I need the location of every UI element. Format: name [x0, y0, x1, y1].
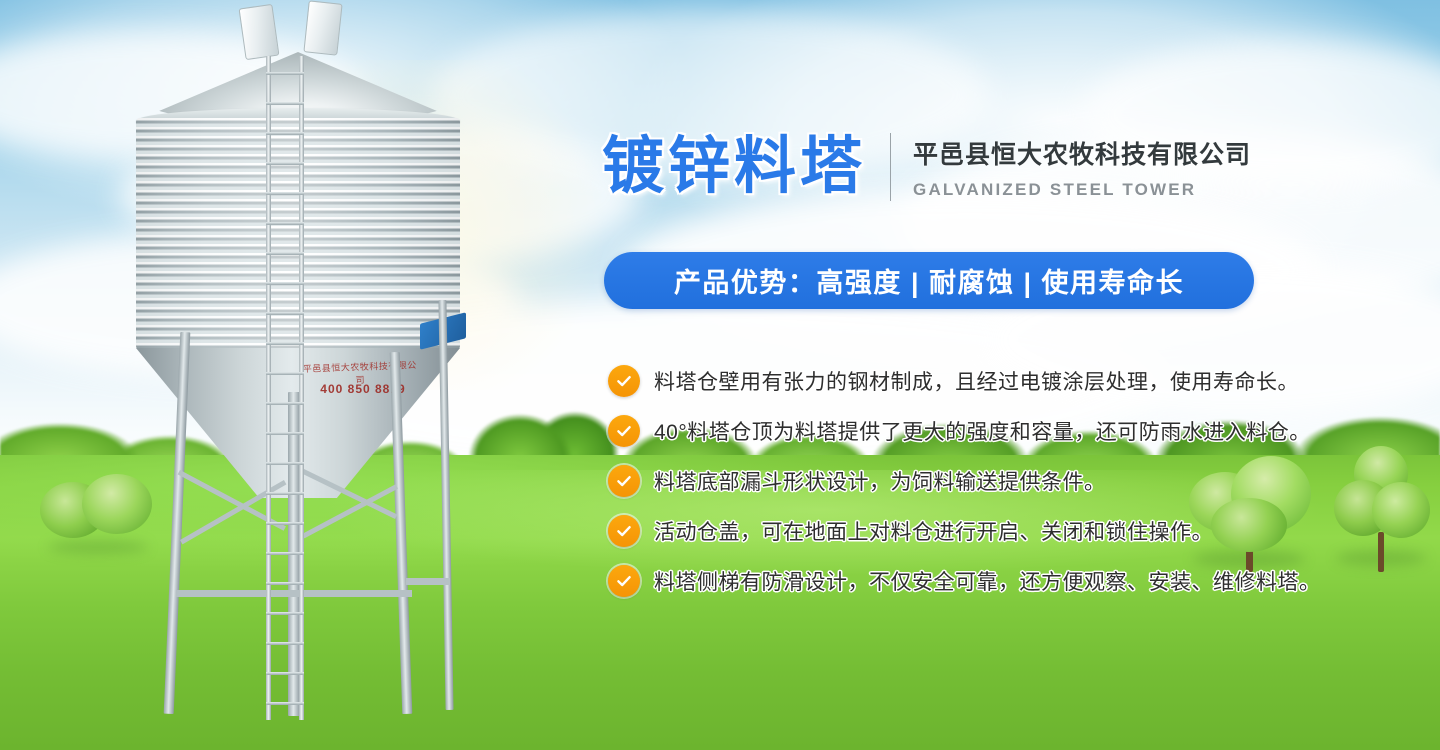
- silo-side-ladder: [266, 56, 304, 720]
- feature-text: 料塔底部漏斗形状设计，为饲料输送提供条件。: [654, 466, 1106, 496]
- product-advantage-banner: 产品优势：高强度 | 耐腐蚀 | 使用寿命长: [604, 252, 1254, 309]
- page-title: 镀锌料塔: [602, 136, 866, 198]
- silo-support-leg: [438, 300, 453, 710]
- list-item: 活动仓盖，可在地面上对料仓进行开启、关闭和锁住操作。: [608, 506, 1408, 556]
- product-image-silo: 平邑县恒大农牧科技有限公司 400 850 8819: [120, 0, 520, 730]
- hero-banner: 平邑县恒大农牧科技有限公司 400 850 8819: [0, 0, 1440, 750]
- list-item: 料塔侧梯有防滑设计，不仅安全可靠，还方便观察、安装、维修料塔。: [608, 556, 1408, 606]
- silo-support-leg: [164, 332, 191, 714]
- check-circle-icon: [608, 465, 640, 497]
- check-circle-icon: [608, 565, 640, 597]
- feature-list: 料塔仓壁用有张力的钢材制成，且经过电镀涂层处理，使用寿命长。 40°料塔仓顶为料…: [608, 356, 1408, 606]
- feature-text: 料塔侧梯有防滑设计，不仅安全可靠，还方便观察、安装、维修料塔。: [654, 566, 1321, 596]
- title-row: 镀锌料塔 平邑县恒大农牧科技有限公司 GALVANIZED STEEL TOWE…: [602, 122, 1251, 212]
- silo-top-vane: [239, 4, 280, 60]
- company-block: 平邑县恒大农牧科技有限公司 GALVANIZED STEEL TOWER: [913, 135, 1251, 200]
- list-item: 料塔底部漏斗形状设计，为饲料输送提供条件。: [608, 456, 1408, 506]
- company-name: 平邑县恒大农牧科技有限公司: [913, 135, 1251, 171]
- title-divider: [890, 133, 891, 201]
- list-item: 40°料塔仓顶为料塔提供了更大的强度和容量，还可防雨水进入料仓。: [608, 406, 1408, 456]
- feature-text: 料塔仓壁用有张力的钢材制成，且经过电镀涂层处理，使用寿命长。: [654, 366, 1299, 396]
- silo-top-vane: [303, 0, 342, 55]
- product-advantage-text: 产品优势：高强度 | 耐腐蚀 | 使用寿命长: [674, 261, 1184, 300]
- silo-horizontal-brace: [406, 578, 450, 585]
- feature-text: 活动仓盖，可在地面上对料仓进行开启、关闭和锁住操作。: [654, 516, 1213, 546]
- list-item: 料塔仓壁用有张力的钢材制成，且经过电镀涂层处理，使用寿命长。: [608, 356, 1408, 406]
- check-circle-icon: [608, 365, 640, 397]
- check-circle-icon: [608, 415, 640, 447]
- company-subtitle: GALVANIZED STEEL TOWER: [913, 180, 1251, 200]
- check-circle-icon: [608, 515, 640, 547]
- feature-text: 40°料塔仓顶为料塔提供了更大的强度和容量，还可防雨水进入料仓。: [654, 416, 1311, 446]
- silo-marking-phone: 400 850 8819: [308, 382, 418, 396]
